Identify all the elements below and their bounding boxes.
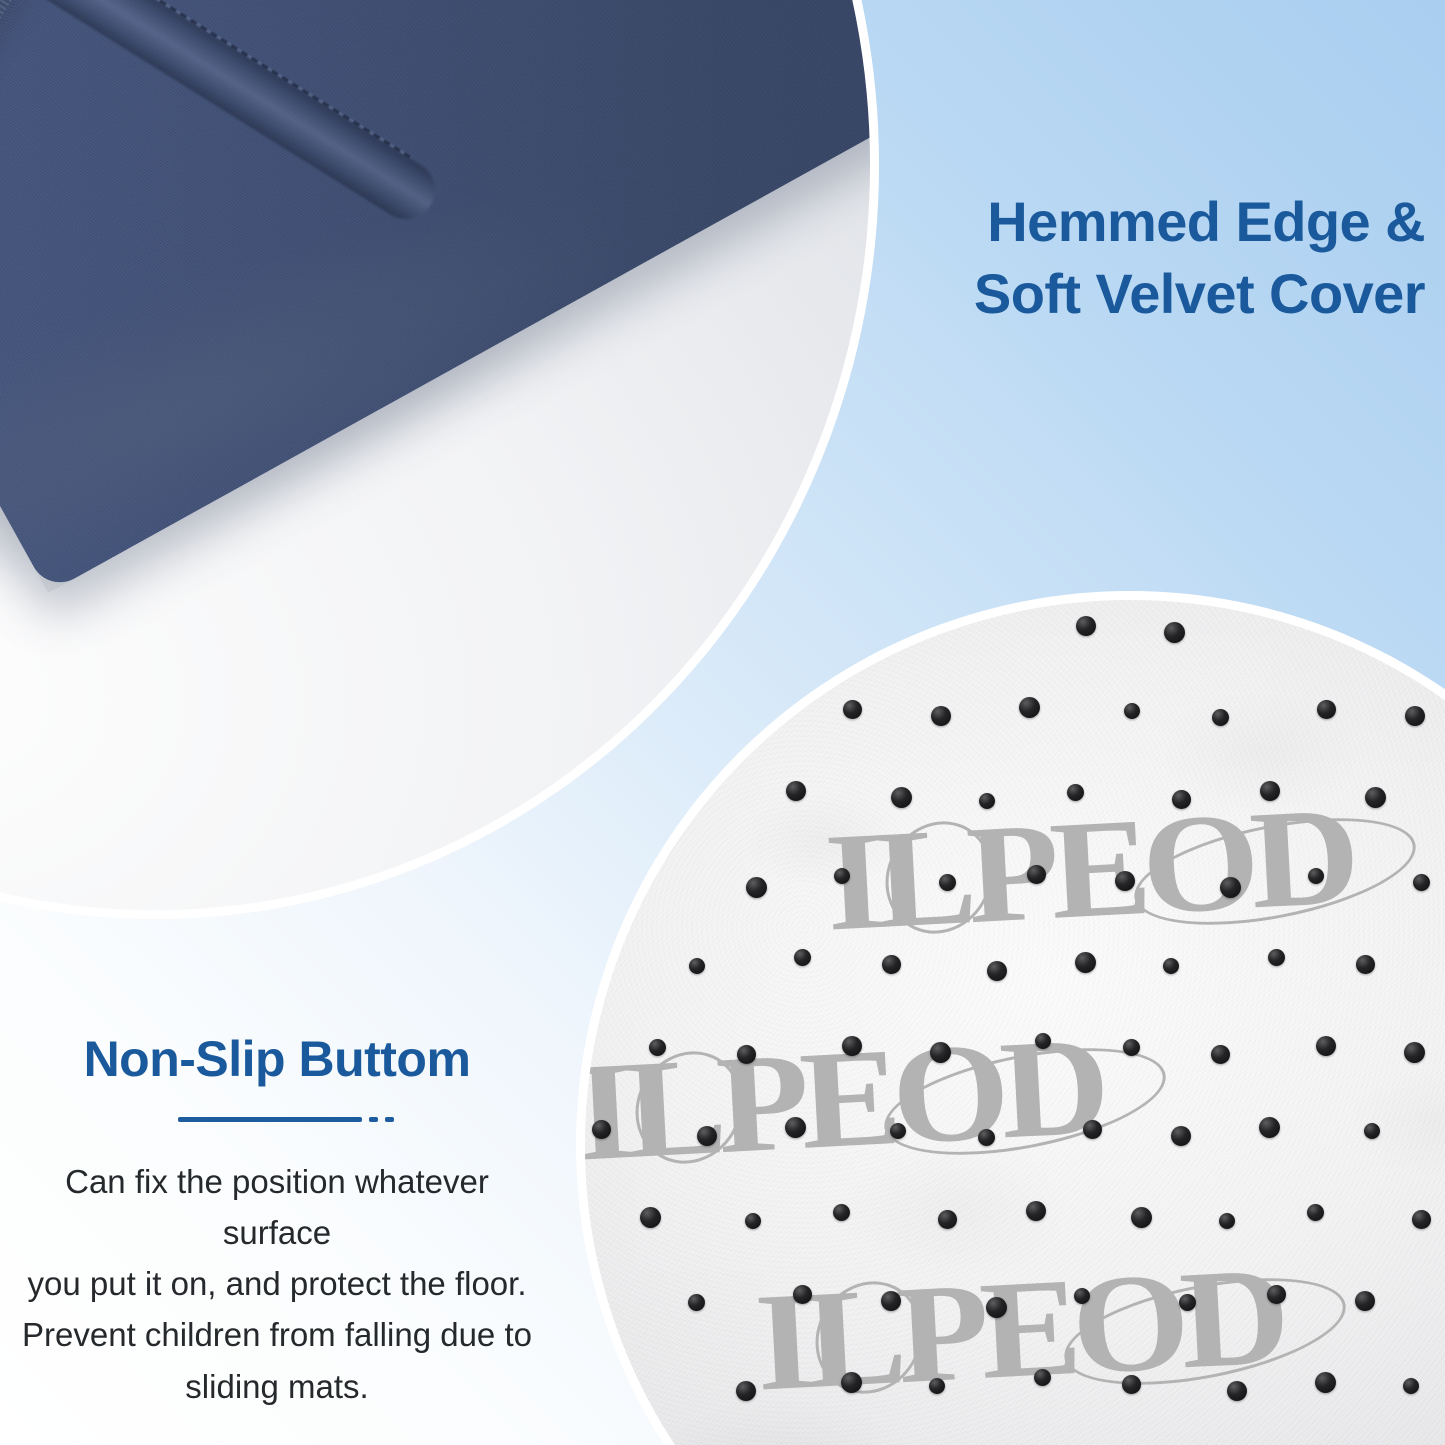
body-line-2: you put it on, and protect the floor. bbox=[12, 1258, 542, 1309]
body-line-3: Prevent children from falling due to bbox=[12, 1309, 542, 1360]
grip-dot bbox=[1122, 1375, 1141, 1394]
feature-body-copy: Can fix the position whatever surface yo… bbox=[12, 1156, 542, 1412]
non-slip-mat-photo-panel: ILPEODILPEODILPEOD bbox=[585, 600, 1445, 1445]
infographic-canvas: ILPEODILPEODILPEOD Hemmed Edge & Soft Ve… bbox=[0, 0, 1445, 1445]
grip-dot bbox=[843, 700, 862, 719]
grip-dot bbox=[1083, 1120, 1102, 1139]
feature-divider bbox=[30, 1117, 542, 1122]
headline-line-2: Soft Velvet Cover bbox=[785, 258, 1425, 330]
grip-dot bbox=[938, 1210, 957, 1229]
grip-dot bbox=[793, 1285, 812, 1304]
grip-dot bbox=[737, 1045, 756, 1064]
grip-dot bbox=[1211, 1045, 1230, 1064]
grip-dot bbox=[1267, 1285, 1286, 1304]
grip-dot bbox=[1356, 955, 1375, 974]
feature-text-block: Non-Slip Buttom Can fix the position wha… bbox=[12, 1030, 542, 1412]
grip-dot bbox=[882, 955, 901, 974]
headline-line-1: Hemmed Edge & bbox=[785, 186, 1425, 258]
grip-dot bbox=[592, 1120, 611, 1139]
body-line-1: Can fix the position whatever surface bbox=[12, 1156, 542, 1258]
divider-dash-1 bbox=[369, 1117, 378, 1122]
grip-dot bbox=[1317, 700, 1336, 719]
grip-dot bbox=[1172, 790, 1191, 809]
divider-bar bbox=[178, 1117, 362, 1122]
page-headline: Hemmed Edge & Soft Velvet Cover bbox=[785, 186, 1425, 329]
divider-dash-2 bbox=[385, 1117, 394, 1122]
body-line-4: sliding mats. bbox=[12, 1361, 542, 1412]
grip-dot bbox=[1412, 1210, 1431, 1229]
feature-title: Non-Slip Buttom bbox=[12, 1030, 542, 1089]
grip-dot bbox=[1027, 865, 1046, 884]
